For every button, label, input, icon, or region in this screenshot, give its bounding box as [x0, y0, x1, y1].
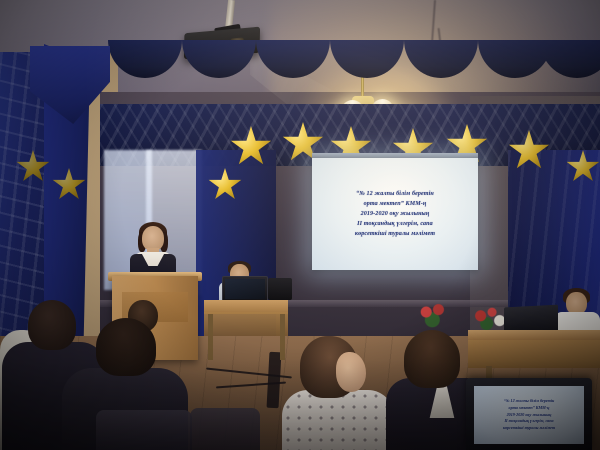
center-desk-front [204, 312, 288, 336]
slide-text: “№ 12 жалпы білім беретін орта мектеп” К… [355, 189, 435, 240]
audience-body [282, 390, 394, 450]
slide-line: көрсеткіші туралы мәлімет [355, 229, 435, 239]
flower-arrangement [416, 300, 450, 330]
slide-line: “№ 12 жалпы білім беретін [355, 189, 435, 199]
slide-line: II тоқсандық үлгерім, сапа [355, 219, 435, 229]
audience-head [96, 318, 156, 376]
center-desk-leg [280, 314, 285, 360]
center-desk-leg [208, 314, 213, 360]
slide-line: “№ 12 жалпы білім беретін [503, 398, 555, 405]
slide-line: 2019-2020 оқу жылының [355, 209, 435, 219]
audience-head [404, 330, 460, 388]
foreground-slide-text: “№ 12 жалпы білім беретін орта мектеп” К… [503, 398, 555, 431]
slide-line: II тоқсандық үлгерім, сапа [503, 418, 555, 425]
projection-screen: “№ 12 жалпы білім беретін орта мектеп” К… [312, 158, 478, 270]
audience-head [28, 300, 76, 350]
chair [96, 410, 192, 450]
center-laptop-screen [225, 279, 265, 299]
slide-line: орта мектеп” КММ-ң [355, 199, 435, 209]
desk-monitor [268, 278, 292, 300]
meeting-room-photo: “№ 12 жалпы білім беретін орта мектеп” К… [0, 0, 600, 450]
audience-face [336, 352, 366, 392]
chair [190, 408, 260, 450]
slide-line: 2019-2020 оқу жылының [503, 412, 555, 419]
right-desk-front [468, 340, 600, 368]
center-laptop [222, 276, 268, 302]
foreground-laptop-screen: “№ 12 жалпы білім беретін орта мектеп” К… [474, 386, 584, 444]
slide-line: көрсеткіші туралы мәлімет [503, 425, 555, 432]
foreground-laptop: “№ 12 жалпы білім беретін орта мектеп” К… [466, 378, 592, 450]
slide-line: орта мектеп” КММ-ң [503, 405, 555, 412]
flower-arrangement [470, 302, 508, 332]
projection-screen-surface: “№ 12 жалпы білім беретін орта мектеп” К… [312, 158, 478, 270]
